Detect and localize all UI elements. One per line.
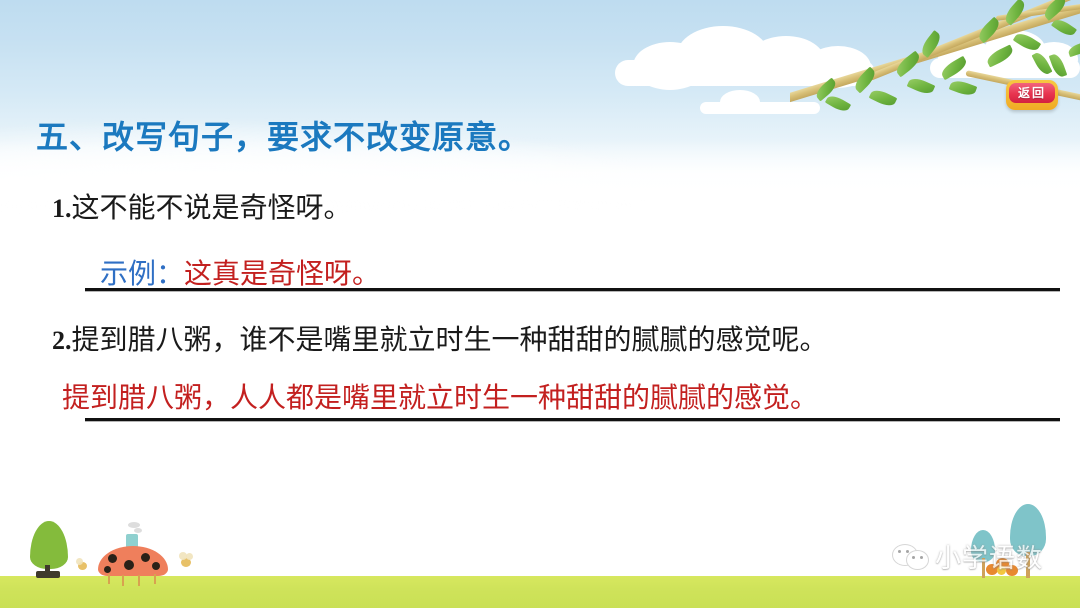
answer-1-text: 这真是奇怪呀。 <box>184 259 380 290</box>
ladybug-house <box>92 522 176 584</box>
bug-small-left <box>76 558 90 572</box>
tree-green-left <box>26 521 72 579</box>
answer-1: 示例：这真是奇怪呀。 <box>100 252 380 292</box>
watermark-text: 小学语数 <box>935 538 1043 575</box>
question-1: 1.这不能不说是奇怪呀。 <box>52 186 352 226</box>
question-2: 2.提到腊八粥，谁不是嘴里就立时生一种甜甜的腻腻的感觉呢。 <box>52 318 828 358</box>
leaf <box>907 75 936 97</box>
leaf <box>1067 41 1080 57</box>
bug-small-right <box>178 552 194 570</box>
return-button[interactable]: 返回 <box>1006 80 1058 110</box>
leaf <box>985 44 1015 67</box>
leaf <box>825 93 851 115</box>
answer-2-text: 提到腊八粥，人人都是嘴里就立时生一种甜甜的腻腻的感觉。 <box>62 376 818 416</box>
leaf <box>1049 52 1068 78</box>
leaf <box>869 87 898 109</box>
question-2-number: 2. <box>52 326 72 355</box>
leaf <box>1032 50 1053 76</box>
slide-canvas: 返回 五、改写句子，要求不改变原意。 1.这不能不说是奇怪呀。 示例：这真是奇怪… <box>0 0 1080 608</box>
question-1-number: 1. <box>52 194 72 223</box>
return-button-label: 返回 <box>1009 83 1055 103</box>
page-title: 五、改写句子，要求不改变原意。 <box>36 112 531 158</box>
answer-2-rule <box>85 418 1060 421</box>
question-1-prompt: 这不能不说是奇怪呀。 <box>72 193 352 224</box>
leaf <box>939 56 969 80</box>
question-2-prompt: 提到腊八粥，谁不是嘴里就立时生一种甜甜的腻腻的感觉呢。 <box>72 325 828 356</box>
wechat-icon <box>892 542 928 570</box>
watermark: 小学语数 <box>892 534 1072 578</box>
leaf <box>1013 30 1041 54</box>
leaf <box>949 78 978 98</box>
answer-1-hint: 示例： <box>100 259 184 290</box>
leaf <box>1051 16 1077 39</box>
answer-1-rule <box>85 288 1060 291</box>
